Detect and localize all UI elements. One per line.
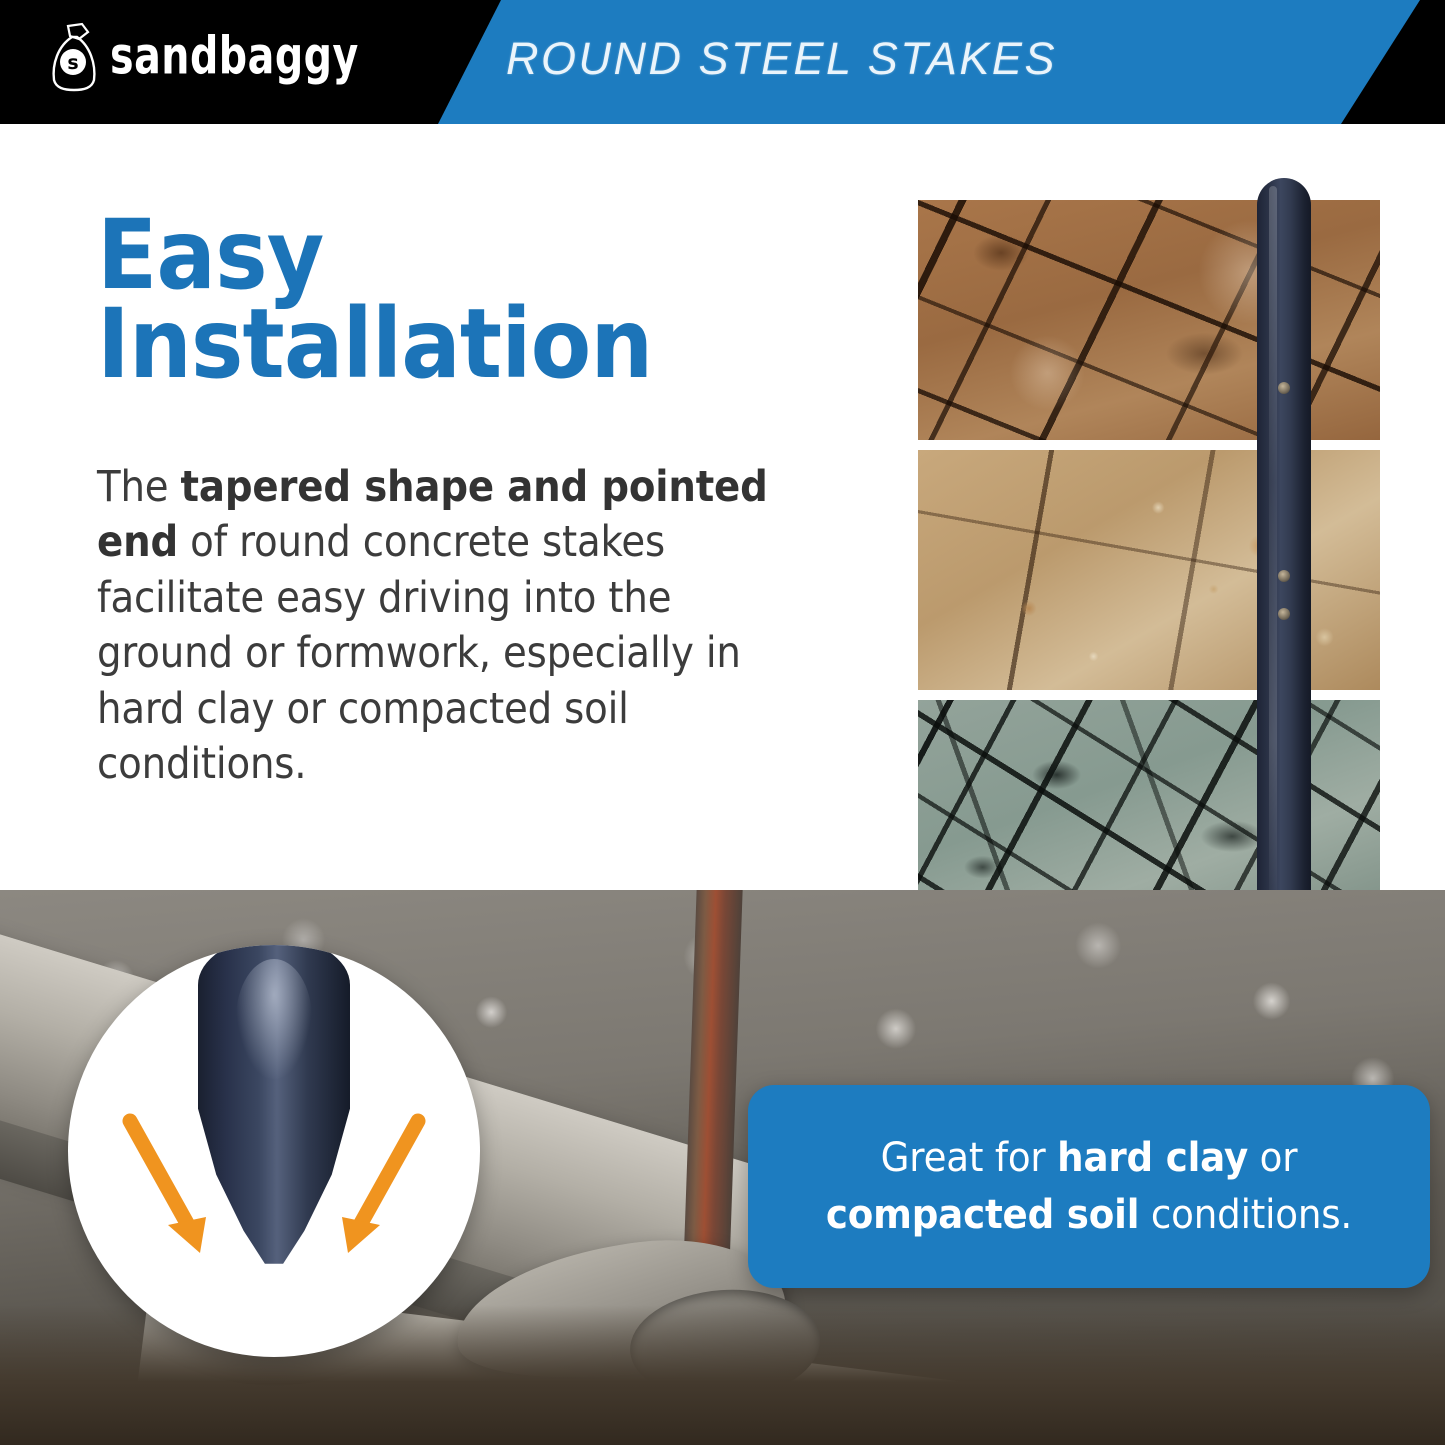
- round-steel-stake: [1257, 178, 1311, 1013]
- feature-callout-box: Great for hard clay or compacted soil co…: [748, 1085, 1430, 1288]
- page-headline: Easy Installation: [97, 211, 741, 390]
- callout-lead: Great for: [881, 1135, 1058, 1181]
- stake-tip-closeup-inset: [68, 945, 480, 1357]
- stake-highlight: [1269, 186, 1277, 926]
- stake-hole-2: [1278, 570, 1290, 582]
- callout-bold-2: compacted soil: [826, 1192, 1139, 1238]
- orange-arrow-right-icon: [328, 1113, 428, 1268]
- sandbag-icon: s: [48, 22, 100, 92]
- headline-line-2: Installation: [97, 300, 741, 389]
- header-product-title: ROUND STEEL STAKES: [506, 36, 1057, 81]
- stake-hole-1: [1278, 382, 1290, 394]
- orange-arrow-left-icon: [120, 1113, 220, 1268]
- body-paragraph: The tapered shape and pointed end of rou…: [97, 460, 808, 793]
- callout-tail: conditions.: [1139, 1192, 1352, 1238]
- stake-hole-3: [1278, 608, 1290, 620]
- stake-tip-gloss: [236, 959, 312, 1079]
- brand-wordmark: SANDBAGGY: [110, 31, 359, 83]
- body-rest: of round concrete stakes facilitate easy…: [97, 517, 741, 789]
- callout-text: Great for hard clay or compacted soil co…: [772, 1130, 1406, 1244]
- svg-text:s: s: [67, 52, 78, 74]
- callout-bold-1: hard clay: [1057, 1135, 1248, 1181]
- brand-logo[interactable]: s SANDBAGGY: [48, 20, 359, 94]
- stake-shaft: [1257, 178, 1311, 948]
- header-bar: s SANDBAGGY ROUND STEEL STAKES: [0, 0, 1445, 124]
- callout-mid: or: [1248, 1135, 1297, 1181]
- body-lead: The: [97, 462, 181, 512]
